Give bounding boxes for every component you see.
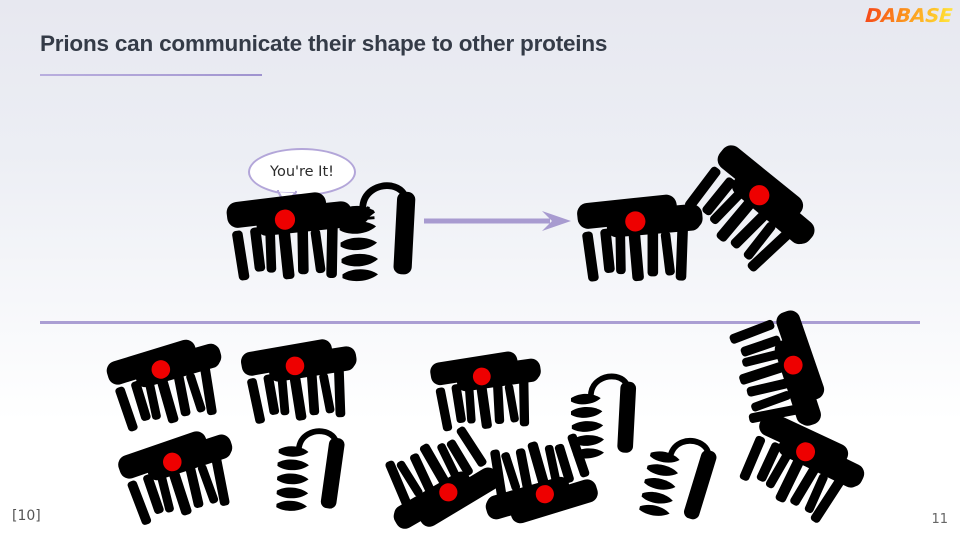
protein-figures-layer [0,0,960,540]
slide-reference-label: [10] [12,508,41,524]
slide-canvas: DABASE Prions can communicate their shap… [0,0,960,540]
slide-page-number: 11 [931,512,948,527]
normal-protein-figure [265,420,356,523]
normal-protein-figure [330,178,426,290]
prion-protein-figure [233,330,381,438]
